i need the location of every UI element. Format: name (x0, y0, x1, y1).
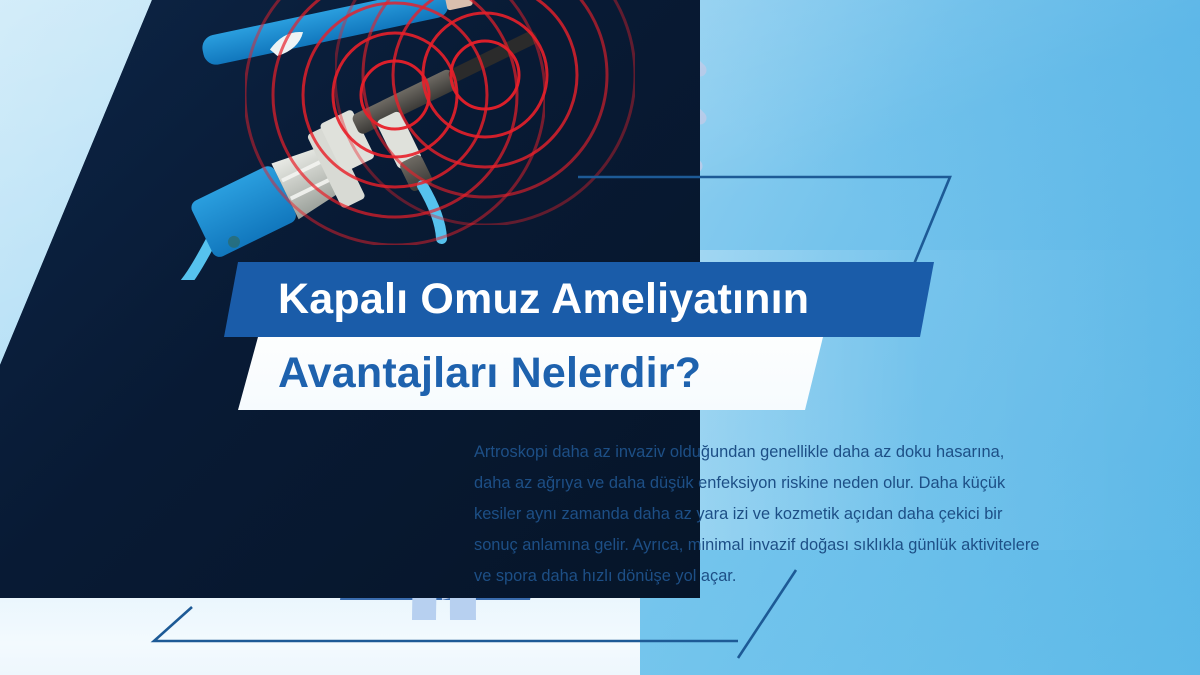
pain-rings (245, 0, 545, 245)
heading-line-1: Kapalı Omuz Ameliyatının (278, 278, 809, 321)
poster-canvas: Kapalı Omuz Ameliyatının Avantajları Nel… (0, 0, 1200, 675)
pain-rings-svg (245, 0, 545, 245)
bottom-accent-line (140, 595, 760, 670)
heading-banner-primary: Kapalı Omuz Ameliyatının (224, 262, 934, 337)
body-paragraph: Artroskopi daha az invaziv olduğundan ge… (474, 437, 1040, 592)
heading-banner-secondary: Avantajları Nelerdir? (238, 337, 823, 410)
heading-line-2: Avantajları Nelerdir? (278, 352, 701, 395)
